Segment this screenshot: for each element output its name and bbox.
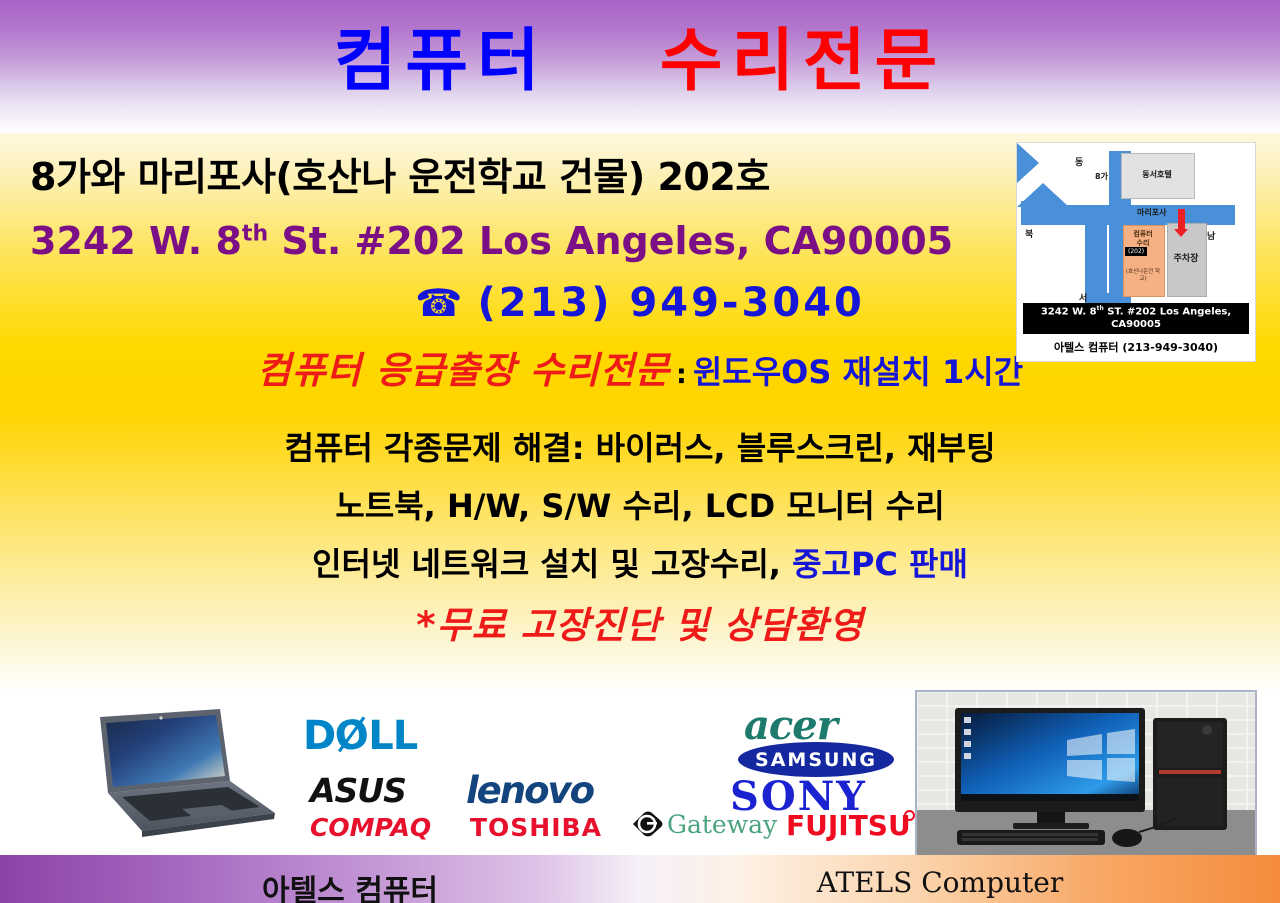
phone-number[interactable]: (213) 949-3040 <box>477 280 864 326</box>
footer-company-english: ATELS Computer <box>620 866 1260 899</box>
free-diagnosis-offer: *무료 고장진단 및 상담환영 <box>0 607 1280 644</box>
map-street-mariposa: 마리포사 <box>1137 207 1166 218</box>
address-korean: 8가와 마리포사(호산나 운전학교 건물) 202호 <box>30 158 770 196</box>
brand-logo-samsung: SAMSUNG <box>738 742 894 777</box>
brand-logo-hp-text: hp <box>477 711 589 761</box>
brand-logo-toshiba: TOSHIBA <box>470 815 602 840</box>
address-ordinal-suffix: th <box>242 221 268 246</box>
title-blue-text: 컴퓨터 <box>334 22 549 101</box>
map-direction-south: 남 <box>1207 229 1215 242</box>
dell-letter-o: Ø <box>332 714 371 759</box>
brand-logo-gateway: Gateway <box>667 812 777 837</box>
service-line-3-black: 인터넷 네트워크 설치 및 고장수리, <box>312 545 792 583</box>
map-address-prefix: 3242 W. 8 <box>1041 306 1097 317</box>
brand-logo-gateway-icon <box>630 810 664 838</box>
address-english: 3242 W. 8th St. #202 Los Angeles, CA9000… <box>30 222 953 260</box>
map-shop-unit-badge: (202) <box>1125 247 1147 256</box>
brand-logo-hp: hp <box>466 707 599 764</box>
title-red-text: 수리전문 <box>660 22 946 101</box>
address-english-suffix: St. #202 Los Angeles, CA90005 <box>268 219 953 263</box>
brand-logo-lenovo: lenovo <box>466 772 593 809</box>
fujitsu-dot-icon <box>904 810 915 821</box>
service-line-3-blue: 중고PC 판매 <box>792 545 968 583</box>
brand-logo-fujitsu: FUJITSU <box>786 812 915 840</box>
map-direction-north: 북 <box>1025 227 1033 240</box>
brand-logo-asus: ASUS <box>310 774 406 807</box>
footer-company-korean: 아텔스 컴퓨터 <box>0 866 700 903</box>
emergency-separator: : <box>676 359 687 390</box>
map-address-ordinal: th <box>1097 305 1104 312</box>
telephone-icon: ☎ <box>415 281 465 325</box>
fujitsu-text: FUJITSU <box>786 809 911 842</box>
map-address-line2: CA90005 <box>1111 319 1161 330</box>
laptop-photo <box>70 705 285 840</box>
address-english-prefix: 3242 W. 8 <box>30 219 242 263</box>
map-road-8th-west <box>1085 205 1107 307</box>
map-arrow-east-icon <box>1017 143 1039 183</box>
map-location-marker-icon <box>1178 209 1185 231</box>
map-direction-east: 동 <box>1075 155 1083 168</box>
map-location-marker-point-icon <box>1174 229 1188 237</box>
emergency-red-text: 컴퓨터 응급출장 수리전문 <box>257 349 670 392</box>
service-line-1: 컴퓨터 각종문제 해결: 바이러스, 블루스크린, 재부팅 <box>0 432 1280 464</box>
map-parking-label: 주차장 <box>1167 251 1205 264</box>
dell-letters-ll: LL <box>368 713 417 759</box>
brand-logo-dell: DØLL <box>303 716 417 756</box>
brand-logo-compaq: COMPAQ <box>310 815 431 840</box>
emergency-blue-text: 윈도우OS 재설치 1시간 <box>693 353 1023 391</box>
map-company-footer: 아텔스 컴퓨터 (213-949-3040) <box>1017 339 1255 355</box>
map-road-mariposa-west <box>1021 201 1049 225</box>
location-map[interactable]: 동서호텔 컴퓨터 수리 (202) (호산나운전 학교) 주차장 동 북 서 남… <box>1016 142 1256 362</box>
map-address-suffix: ST. #202 Los Angeles, <box>1104 306 1231 317</box>
service-line-2: 노트북, H/W, S/W 수리, LCD 모니터 수리 <box>0 490 1280 522</box>
map-shop-note: (호산나운전 학교) <box>1123 269 1163 282</box>
map-address-bar: 3242 W. 8th ST. #202 Los Angeles, CA9000… <box>1023 303 1249 334</box>
service-line-3: 인터넷 네트워크 설치 및 고장수리, 중고PC 판매 <box>0 548 1280 580</box>
desktop-computer-photo <box>915 690 1257 859</box>
page-title: 컴퓨터 수리전문 <box>0 28 1280 96</box>
map-street-8th: 8가 <box>1095 171 1108 182</box>
brand-logo-acer: acer <box>744 706 837 746</box>
dell-letter-d: D <box>303 713 335 759</box>
flyer-page: 컴퓨터 수리전문 8가와 마리포사(호산나 운전학교 건물) 202호 3242… <box>0 0 1280 903</box>
map-hotel-label: 동서호텔 <box>1121 169 1193 180</box>
